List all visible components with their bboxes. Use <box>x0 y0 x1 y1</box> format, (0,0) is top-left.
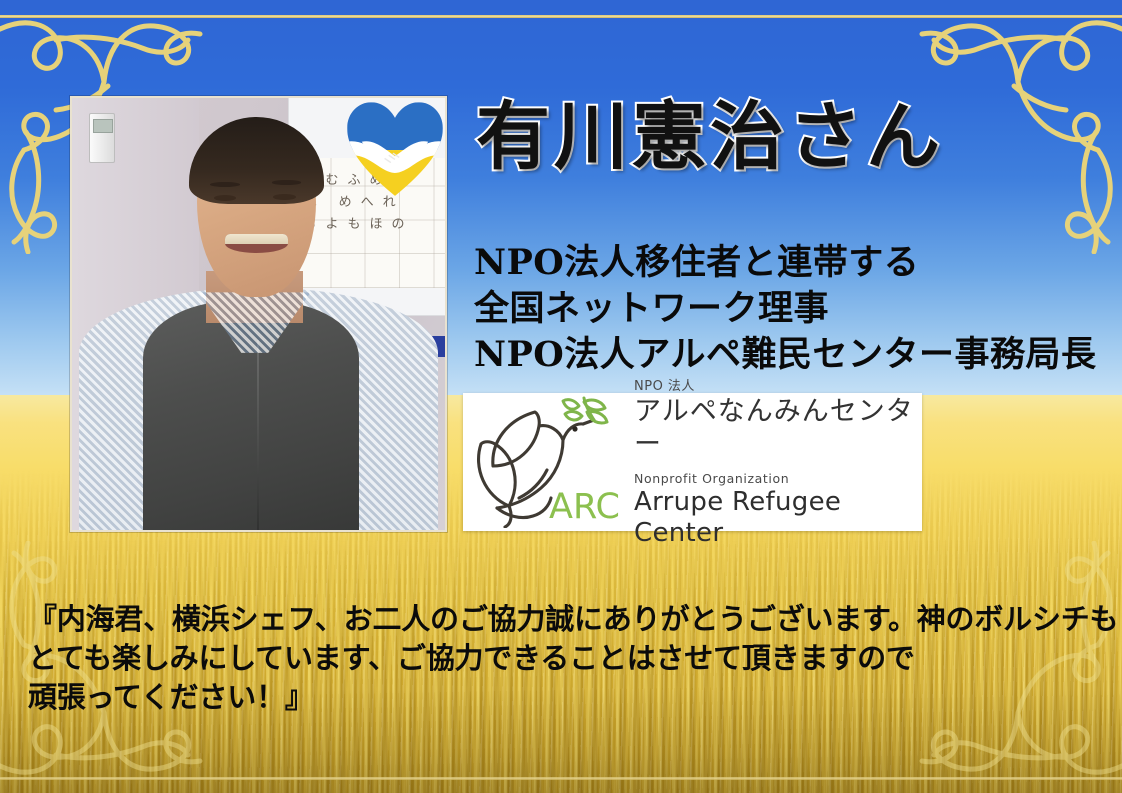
quote-block: 『内海君、横浜シェフ、お二人のご協力誠にありがとうございます。神のボルシチも と… <box>28 600 1100 717</box>
gold-rule-top <box>0 15 1122 18</box>
photo-vest-zipper <box>257 340 259 532</box>
photo-eyebrow-left <box>210 182 240 187</box>
role-subtitle: NPO法人移住者と連帯する 全国ネットワーク理事 NPO法人アルペ難民センター事… <box>474 240 1094 379</box>
arc-nonprofit-label: Nonprofit Organization <box>634 471 922 486</box>
gold-rule-bottom <box>0 777 1122 780</box>
arc-name-en: Arrupe Refugee Center <box>634 487 922 549</box>
role-line-1: NPO法人移住者と連帯する <box>474 240 1094 286</box>
page-title: 有川憲治さん <box>476 100 944 174</box>
arc-name-jp: アルペなんみんセンター <box>634 395 922 463</box>
quote-line-1: 『内海君、横浜シェフ、お二人のご協力誠にありがとうございます。神のボルシチも <box>28 600 1100 639</box>
ukraine-heart-hands-icon <box>343 96 447 200</box>
presentation-slide: るむふめ れ めへれ ろよもほの <box>0 0 1122 793</box>
photo-ac-remote <box>89 113 115 163</box>
photo-eyebrow-right <box>272 180 302 185</box>
photo-teeth <box>225 234 288 244</box>
role-line-2: 全国ネットワーク理事 <box>474 286 1094 332</box>
quote-line-2: とても楽しみにしています、ご協力できることはさせて頂きますので <box>28 639 1100 678</box>
arc-logo-text-block: NPO 法人 アルペなんみんセンター Nonprofit Organizatio… <box>628 375 922 550</box>
arc-mark-text: ARC <box>549 487 620 527</box>
portrait-photo: るむふめ れ めへれ ろよもほの <box>70 96 447 532</box>
arc-logo-card: ARC NPO 法人 アルペなんみんセンター Nonprofit Organiz… <box>463 393 922 531</box>
photo-smile <box>225 234 288 253</box>
role-line-3: NPO法人アルペ難民センター事務局長 <box>474 332 1094 378</box>
arc-dove-logo-icon: ARC <box>463 396 628 528</box>
quote-line-3: 頑張ってください！』 <box>28 678 1100 717</box>
arc-npo-label: NPO 法人 <box>634 375 922 394</box>
photo-eye-right <box>273 194 295 200</box>
